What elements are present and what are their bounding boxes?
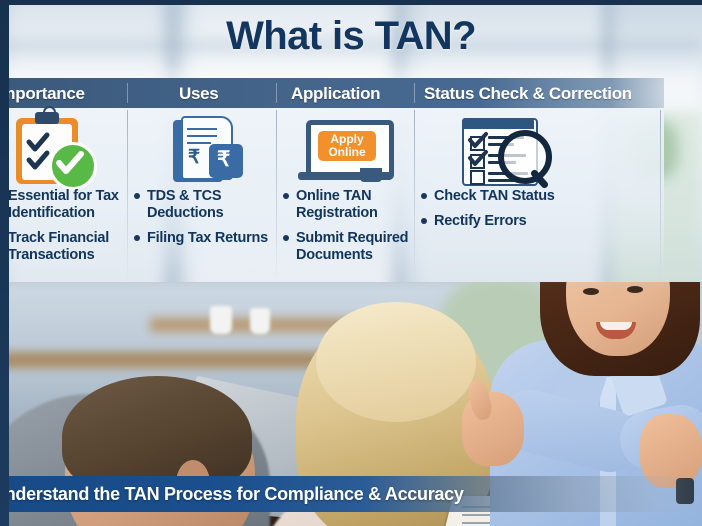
footer-text: Understand the TAN Process for Complianc… [0,484,464,505]
footer-banner: Understand the TAN Process for Complianc… [0,476,702,512]
left-edge-border [0,0,9,526]
bullet-item: Check TAN Status [420,188,660,205]
column-divider-1 [127,110,128,282]
header-separator-1 [127,83,128,103]
rupee-documents-icon: ₹ ₹ [133,110,273,182]
column-header-importance: Importance [0,84,85,104]
header-separator-2 [276,83,277,103]
bullet-list-uses: TDS & TCS Deductions Filing Tax Returns [133,188,273,255]
column-divider-3 [414,110,415,282]
rupee-symbol-doc: ₹ [188,148,200,167]
panel-right-edge [660,110,661,282]
laptop-apply-online-icon: Apply Online [282,110,412,182]
checklist-magnifier-icon [420,110,660,182]
column-header-uses: Uses [179,84,218,104]
bullet-item: Submit Required Documents [282,230,412,264]
rupee-symbol-badge: ₹ [217,149,230,170]
bullet-list-application: Online TAN Registration Submit Required … [282,188,412,272]
bullet-item: Rectify Errors [420,213,660,230]
bullet-item: Essential for Tax Identification [0,188,122,222]
bullet-list-status-check: Check TAN Status Rectify Errors [420,188,660,238]
header-separator-3 [414,83,415,103]
top-edge-border [0,0,702,5]
column-divider-2 [276,110,277,282]
bullet-item: TDS & TCS Deductions [133,188,273,222]
page-title: What is TAN? [0,14,702,59]
column-header-status-check: Status Check & Correction [424,84,632,104]
column-header-application: Application [291,84,380,104]
online-label: Online [328,145,365,159]
bullet-item: Online TAN Registration [282,188,412,222]
bullet-list-importance: Essential for Tax Identification Track F… [0,188,122,272]
bullet-item: Filing Tax Returns [133,230,273,247]
infographic-root: What is TAN? Importance Uses Application… [0,0,702,526]
bullet-item: Track Financial Transactions [0,230,122,264]
clipboard-checklist-approved-icon [0,110,122,182]
info-panel: Importance Uses Application Status Check… [0,78,664,285]
